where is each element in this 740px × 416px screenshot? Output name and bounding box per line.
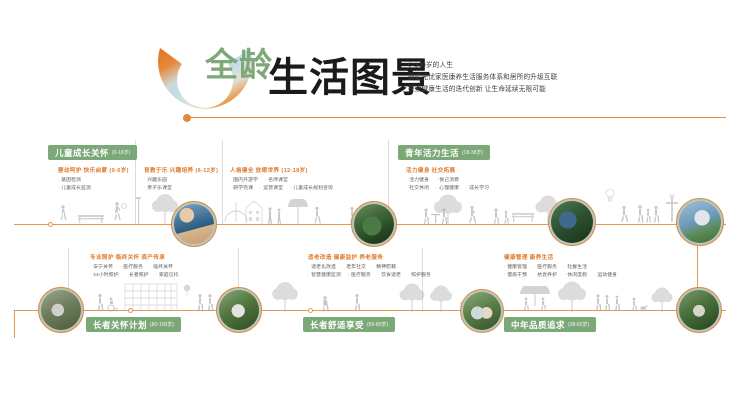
timeline-node <box>308 308 313 313</box>
silhouette-elder-sitting <box>320 294 336 312</box>
photo-elder-walk[interactable] <box>38 287 84 333</box>
detail-line: 健康管理医疗服务社群生活 <box>504 264 624 272</box>
silhouette-caregiver-wheelchair <box>96 292 120 312</box>
detail-elder-comfort: 适老改造 健康监护 养老服务 适老化改造老年社交精神慰藉 智慧健康监测医疗服务饮… <box>308 253 438 281</box>
silhouette-tree <box>432 192 464 225</box>
silhouette-person-standing <box>352 292 366 312</box>
detail-line: 社交休闲心理健康成长学习 <box>406 185 496 193</box>
detail-line: 亲子乐课堂 <box>144 185 218 193</box>
silhouette-bench <box>78 213 104 224</box>
header-rule <box>190 117 726 118</box>
detail-heading: 适老改造 健康监护 养老服务 <box>308 253 438 261</box>
detail-midlife: 健康管理 康养生活 健康管理医疗服务社群生活 慢病干预抗衰养护休闲度假运动健身 <box>504 253 624 281</box>
detail-line: 适老化改造老年社交精神慰藉 <box>308 264 438 272</box>
silhouette-bench <box>512 211 534 223</box>
silhouette-street-lamp <box>134 196 144 224</box>
silhouette-tree <box>428 284 454 312</box>
badge-range: (60-80岁) <box>367 321 388 328</box>
description-line-1: 0-100岁的人生 <box>408 60 557 72</box>
badge-elder-comfort[interactable]: 长者舒适享受 (60-80岁) <box>303 317 395 332</box>
photo-youth-couple[interactable] <box>676 198 724 246</box>
badge-children[interactable]: 儿童成长关怀 (0-18岁) <box>48 145 137 160</box>
silhouette-hot-air-balloon <box>604 188 616 204</box>
silhouette-people-dining <box>594 292 622 312</box>
detail-line: 24小时照护长者照护家庭信托 <box>90 272 186 280</box>
photo-midlife-chat[interactable] <box>460 289 504 333</box>
badge-title: 长者舒适享受 <box>310 319 364 331</box>
detail-line: 安宁关怀医疗服务临终关怀 <box>90 264 186 272</box>
detail-heading: 专业照护 临终关怀 资产传承 <box>90 253 186 261</box>
silhouette-person-running <box>618 204 634 225</box>
silhouette-apartment-building <box>124 283 178 311</box>
badge-midlife[interactable]: 中年品质追求 (38-60岁) <box>504 317 596 332</box>
detail-heading: 健康管理 康养生活 <box>504 253 624 261</box>
silhouette-building <box>244 198 264 225</box>
detail-line: 研学完课运营课堂儿童成长规划咨询 <box>230 185 340 193</box>
header: 全龄 生活图景 0-100岁的人生 通过无忧家医康养生活服务体系和居所的升级互联… <box>0 0 740 140</box>
detail-heading: 人格健全 放眼世界 (12-18岁) <box>230 166 340 174</box>
silhouette-elder-pair <box>196 292 218 312</box>
detail-heading: 活力健身 社交拓展 <box>406 166 496 174</box>
detail-line: 国内外游学名师课堂 <box>230 177 340 185</box>
badge-title: 中年品质追求 <box>511 319 565 331</box>
silhouette-tree <box>650 286 674 312</box>
silhouette-person-walking <box>312 205 326 225</box>
badge-title: 青年活力生活 <box>405 147 459 159</box>
header-description: 0-100岁的人生 通过无忧家医康养生活服务体系和居所的升级互联 探索健康生活的… <box>408 60 557 97</box>
photo-elder-garden[interactable] <box>216 287 262 333</box>
detail-line: 儿童成长监测 <box>58 185 129 193</box>
description-line-3: 探索健康生活的迭代创新 让生命延续无限可能 <box>408 84 557 96</box>
detail-heading: 婴幼呵护 快乐启蒙 (0-6岁) <box>58 166 129 174</box>
detail-elder-care: 专业照护 临终关怀 资产传承 安宁关怀医疗服务临终关怀 24小时照护长者照护家庭… <box>90 253 186 281</box>
timeline-node <box>48 222 53 227</box>
detail-line: 智慧健康监测医疗服务饮食适老照护服务 <box>308 272 438 280</box>
badge-title: 儿童成长关怀 <box>55 147 109 159</box>
detail-line: 活力健身悦己消费 <box>406 177 496 185</box>
silhouette-family-sitting <box>492 206 512 225</box>
detail-youth-vitality: 活力健身 社交拓展 活力健身悦己消费 社交休闲心理健康成长学习 <box>406 166 496 194</box>
silhouette-people-group <box>266 205 288 225</box>
silhouette-parasol <box>286 199 310 225</box>
photo-midlife-walk[interactable] <box>676 287 722 333</box>
silhouette-people-running <box>58 203 80 225</box>
photo-youth-sport[interactable] <box>548 198 596 246</box>
badge-elder-care[interactable]: 长者关怀计划 (80-100岁) <box>86 317 181 332</box>
silhouette-people-family <box>636 203 660 225</box>
detail-children-education: 育教于乐 兴趣培养 (6-12岁) 兴趣乐园 亲子乐课堂 <box>144 166 218 194</box>
silhouette-tree <box>556 280 588 312</box>
detail-children-personality: 人格健全 放眼世界 (12-18岁) 国内外游学名师课堂 研学完课运营课堂儿童成… <box>230 166 340 194</box>
silhouette-person-jogging <box>466 204 484 225</box>
detail-line: 基因检测 <box>58 177 129 185</box>
badge-range: (80-100岁) <box>150 321 174 328</box>
silhouette-dog-walker <box>630 296 648 312</box>
badge-youth[interactable]: 青年活力生活 (18-38岁) <box>398 145 490 160</box>
photo-family-outdoor[interactable] <box>351 201 397 247</box>
badge-range: (38-60岁) <box>568 321 589 328</box>
badge-range: (0-18岁) <box>112 149 130 156</box>
silhouette-person-badminton <box>110 200 130 225</box>
silhouette-tree <box>270 280 300 312</box>
infographic-canvas: 全龄 生活图景 0-100岁的人生 通过无忧家医康养生活服务体系和居所的升级互联… <box>0 0 740 416</box>
detail-heading: 育教于乐 兴趣培养 (6-12岁) <box>144 166 218 174</box>
silhouette-cafe-parasol <box>518 286 552 313</box>
silhouette-tree <box>398 282 426 312</box>
badge-title: 长者关怀计划 <box>93 319 147 331</box>
badge-range: (18-38岁) <box>462 149 483 156</box>
timeline-end-tick <box>14 310 15 338</box>
brand-subtitle-cn: 全龄 <box>205 48 273 81</box>
detail-children-infant: 婴幼呵护 快乐启蒙 (0-6岁) 基因检测 儿童成长监测 <box>58 166 129 194</box>
detail-line: 兴趣乐园 <box>144 177 218 185</box>
description-line-2: 通过无忧家医康养生活服务体系和居所的升级互联 <box>408 72 557 84</box>
detail-line: 慢病干预抗衰养护休闲度假运动健身 <box>504 272 624 280</box>
silhouette-balloon <box>182 284 192 298</box>
photo-child-play[interactable] <box>171 201 217 247</box>
